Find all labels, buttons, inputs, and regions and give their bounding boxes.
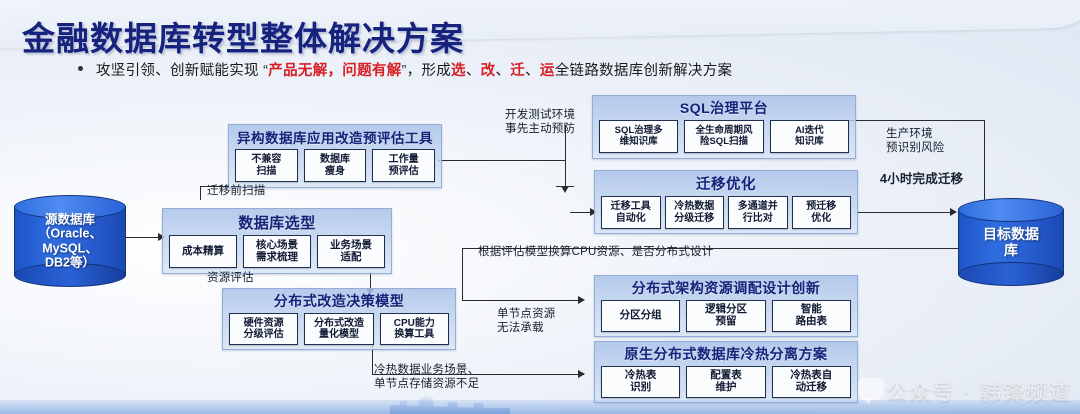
annotation-dev-test-env: 开发测试环境 事先主动预防 (505, 108, 575, 137)
bullet-point-marker (78, 66, 83, 71)
chip-hardware-tier-assess[interactable]: 硬件资源 分级评估 (229, 313, 298, 345)
annotation-resource-assessment: 资源评估 (207, 271, 254, 285)
group-hotcold-separation-title: 原生分布式数据库冷热分离方案 (595, 342, 857, 366)
group-migration-optimization-title: 迁移优化 (595, 171, 857, 196)
source-db-label: 源数据库 （Oracle、 MySQL、 DB2等） (14, 212, 126, 270)
group-distributed-decision-model: 分布式改造决策模型 硬件资源 分级评估 分布式改造 量化模型 CPU能力 换算工… (222, 288, 456, 350)
arrow-migration-to-target (950, 208, 957, 216)
subtitle: 攻坚引领、创新赋能实现 “产品无解，问题有解”，形成选、改、迁、运全链路数据库创… (96, 59, 732, 80)
chip-logical-partition-reserve[interactable]: 逻辑分区 预留 (686, 300, 765, 332)
target-db-bottom (958, 262, 1064, 286)
speech-bubble-icon (858, 378, 884, 400)
arrow-model-to-hotcold (578, 370, 585, 378)
connector-scan-vert (200, 186, 201, 200)
bottom-glow-decoration (0, 400, 1080, 414)
chip-hotcold-table-identify[interactable]: 冷热表 识别 (601, 366, 680, 398)
subtitle-mid: ，形成 (407, 63, 451, 79)
target-database-cylinder: 目标数据 库 (958, 198, 1064, 286)
group-assessment-tool: 异构数据库应用改造预评估工具 不兼容 扫描 数据库 瘦身 工作量 预评估 (228, 124, 442, 188)
subtitle-sep-2: 、 (495, 63, 510, 79)
chip-multichannel-compare[interactable]: 多通道并 行比对 (728, 196, 788, 229)
chip-hotcold-tiered-migration[interactable]: 冷热数据 分级迁移 (665, 196, 725, 229)
subtitle-sep-3: 、 (525, 63, 540, 79)
group-sql-platform-title: SQL治理平台 (593, 96, 855, 120)
arrow-model-to-arch (578, 296, 585, 304)
connector-sql-to-prod (845, 120, 985, 121)
connector-source-to-selection (125, 237, 160, 238)
annotation-cpu-conversion: 根据评估模型换算CPU资源、是否分布式设计 (478, 245, 713, 259)
target-db-top (958, 198, 1064, 222)
connector-devtest-down (565, 160, 566, 188)
connector-migration-to-target (855, 212, 955, 213)
group-migration-optimization: 迁移优化 迁移工具 自动化 冷热数据 分级迁移 多通道并 行比对 预迁移 优化 (594, 170, 858, 234)
chip-incompatibility-scan[interactable]: 不兼容 扫描 (235, 149, 298, 182)
arrow-devtest-down (561, 186, 569, 193)
annotation-single-node-limit: 单节点资源 无法承载 (497, 307, 556, 336)
group-distributed-decision-model-title: 分布式改造决策模型 (223, 289, 455, 313)
chip-cost-accounting[interactable]: 成本精算 (169, 235, 237, 268)
slide-canvas: 金融数据库转型整体解决方案 攻坚引领、创新赋能实现 “产品无解，问题有解”，形成… (0, 0, 1080, 414)
connector-model-to-arch-h2 (462, 300, 582, 301)
group-db-selection: 数据库选型 成本精算 核心场景 需求梳理 业务场景 适配 (162, 208, 392, 274)
group-arch-resource-design-title: 分布式架构资源调配设计创新 (595, 276, 857, 300)
connector-assess-to-sql-vert (565, 138, 566, 161)
chip-config-table-maintain[interactable]: 配置表 维护 (686, 366, 765, 398)
subtitle-sep-1: 、 (466, 63, 481, 79)
chip-core-scenario-requirements[interactable]: 核心场景 需求梳理 (243, 235, 311, 268)
subtitle-lead: 攻坚引领、创新赋能实现 (96, 63, 259, 79)
subtitle-keyword-xuan: 选 (451, 63, 466, 79)
chip-cpu-conversion-tool[interactable]: CPU能力 换算工具 (380, 313, 449, 345)
group-assessment-tool-title: 异构数据库应用改造预评估工具 (229, 125, 441, 149)
group-db-selection-title: 数据库选型 (163, 209, 391, 235)
group-sql-platform: SQL治理平台 SQL治理多 维知识库 全生命周期风 险SQL扫描 AI迭代 知… (592, 95, 856, 159)
annotation-hotcold-scenario: 冷热数据业务场景、 单节点存储资源不足 (374, 363, 479, 392)
source-database-cylinder: 源数据库 （Oracle、 MySQL、 DB2等） (14, 195, 126, 287)
group-arch-resource-design: 分布式架构资源调配设计创新 分区分组 逻辑分区 预留 智能 路由表 (594, 275, 858, 337)
chip-workload-preassess[interactable]: 工作量 预评估 (372, 149, 435, 182)
chip-migration-tool-auto[interactable]: 迁移工具 自动化 (601, 196, 661, 229)
chip-business-scenario-fit[interactable]: 业务场景 适配 (317, 235, 385, 268)
connector-assess-to-sql (438, 160, 566, 161)
subtitle-keyword-gai: 改 (481, 63, 496, 79)
chip-smart-routing-table[interactable]: 智能 路由表 (772, 300, 851, 332)
chip-distributed-quant-model[interactable]: 分布式改造 量化模型 (304, 313, 373, 345)
target-db-label: 目标数据 库 (958, 226, 1064, 258)
subtitle-tail: 全链路数据库创新解决方案 (555, 63, 733, 79)
annotation-four-hours-migration: 4小时完成迁移 (880, 172, 963, 188)
annotation-pre-migration-scan: 迁移前扫描 (207, 184, 266, 198)
chip-db-slimming[interactable]: 数据库 瘦身 (304, 149, 367, 182)
chip-partition-grouping[interactable]: 分区分组 (601, 300, 680, 332)
chip-hotcold-auto-migrate[interactable]: 冷热表自 动迁移 (772, 366, 851, 398)
subtitle-quote-red: 产品无解，问题有解 (268, 63, 401, 79)
connector-model-to-arch-v (462, 248, 463, 300)
chip-ai-iteration-kb[interactable]: AI迭代 知识库 (770, 120, 849, 153)
subtitle-keyword-yun: 运 (540, 63, 555, 79)
chip-risk-sql-scan[interactable]: 全生命周期风 险SQL扫描 (684, 120, 763, 153)
connector-prod-to-target (984, 120, 985, 205)
group-hotcold-separation: 原生分布式数据库冷热分离方案 冷热表 识别 配置表 维护 冷热表自 动迁移 (594, 341, 858, 403)
page-title: 金融数据库转型整体解决方案 (22, 12, 464, 60)
chip-sql-knowledge-base[interactable]: SQL治理多 维知识库 (599, 120, 678, 153)
annotation-prod-env: 生产环境 预识别风险 (886, 127, 945, 156)
subtitle-keyword-qian: 迁 (510, 63, 525, 79)
chip-pre-migration-opt[interactable]: 预迁移 优化 (792, 196, 852, 229)
